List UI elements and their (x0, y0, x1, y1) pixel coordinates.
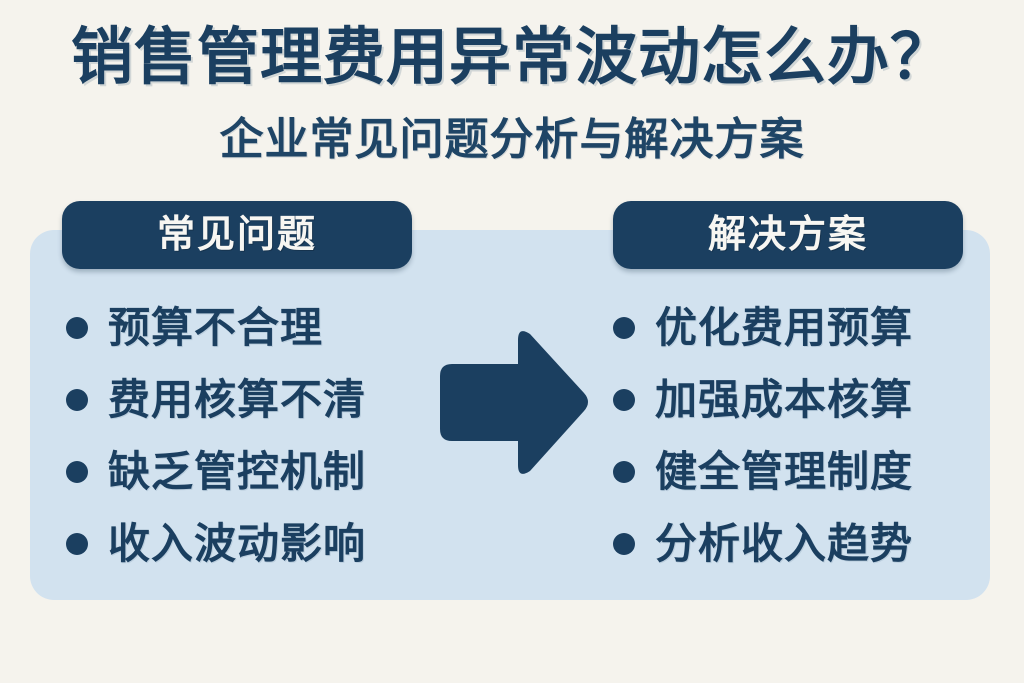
list-item: 优化费用预算 (613, 292, 983, 364)
solutions-list: 优化费用预算 加强成本核算 健全管理制度 分析收入趋势 (613, 292, 983, 580)
list-item: 费用核算不清 (66, 364, 426, 436)
bullet-icon (613, 461, 635, 483)
list-item: 分析收入趋势 (613, 508, 983, 580)
page-subtitle: 企业常见问题分析与解决方案 (0, 112, 1024, 168)
bullet-icon (66, 533, 88, 555)
solutions-header-badge: 解决方案 (613, 201, 963, 269)
page-title: 销售管理费用异常波动怎么办？ (0, 22, 1024, 94)
problem-item-label: 费用核算不清 (108, 379, 366, 421)
solution-item-label: 优化费用预算 (655, 307, 913, 349)
problem-item-label: 缺乏管控机制 (108, 451, 366, 493)
bullet-icon (66, 317, 88, 339)
problems-header-badge: 常见问题 (62, 201, 412, 269)
problem-item-label: 预算不合理 (108, 307, 323, 349)
bullet-icon (613, 389, 635, 411)
list-item: 预算不合理 (66, 292, 426, 364)
list-item: 收入波动影响 (66, 508, 426, 580)
bullet-icon (66, 461, 88, 483)
problems-header-label: 常见问题 (157, 216, 317, 254)
list-item: 加强成本核算 (613, 364, 983, 436)
infographic-canvas: 销售管理费用异常波动怎么办？ 企业常见问题分析与解决方案 常见问题 解决方案 预… (0, 0, 1024, 683)
bullet-icon (613, 317, 635, 339)
solution-item-label: 分析收入趋势 (655, 523, 913, 565)
list-item: 健全管理制度 (613, 436, 983, 508)
problem-item-label: 收入波动影响 (108, 523, 366, 565)
solution-item-label: 加强成本核算 (655, 379, 913, 421)
solutions-header-label: 解决方案 (708, 216, 868, 254)
list-item: 缺乏管控机制 (66, 436, 426, 508)
problems-list: 预算不合理 费用核算不清 缺乏管控机制 收入波动影响 (66, 292, 426, 580)
solution-item-label: 健全管理制度 (655, 451, 913, 493)
bullet-icon (613, 533, 635, 555)
bullet-icon (66, 389, 88, 411)
arrow-right-icon (436, 324, 592, 482)
